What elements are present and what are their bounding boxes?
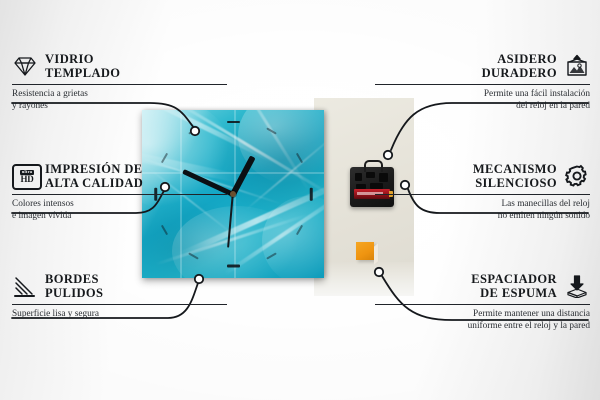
feature-title: ESPACIADOR DE ESPUMA [471, 272, 557, 300]
polished-edges-icon [12, 274, 38, 298]
foam-spacer [356, 242, 374, 260]
feature-title: IMPRESIÓN DE ALTA CALIDAD [45, 162, 143, 190]
gear-icon [564, 164, 590, 188]
feature-subtitle: Colores intensos e imagen vívida [12, 199, 227, 222]
feature-subtitle: Las manecillas del reloj no emiten ningú… [375, 199, 590, 222]
hour-tick [227, 121, 240, 124]
feature-subtitle: Superficie lisa y segura [12, 309, 227, 321]
hour-tick [310, 188, 313, 201]
feature-asidero-duradero[interactable]: ASIDERO DURADERO Permite una fácil insta… [375, 52, 590, 112]
feature-title-row: VIDRIO TEMPLADO [12, 52, 227, 80]
feature-subtitle: Permite una fácil instalación del reloj … [375, 89, 590, 112]
feature-title: ASIDERO DURADERO [482, 52, 557, 80]
hand-center-cap [230, 191, 236, 197]
feature-mecanismo-silencioso[interactable]: MECANISMO SILENCIOSO Las manecillas del … [375, 162, 590, 222]
hour-tick [227, 265, 240, 268]
feature-divider [12, 304, 227, 305]
feature-impresion-alta-calidad[interactable]: ultra HD IMPRESIÓN DE ALTA CALIDAD Color… [12, 162, 227, 222]
feature-title-row: BORDES PULIDOS [12, 272, 227, 300]
feature-subtitle: Permite mantener una distancia uniforme … [375, 309, 590, 332]
diamond-icon [12, 54, 38, 78]
feature-espaciador-de-espuma[interactable]: ESPACIADOR DE ESPUMA Permite mantener un… [375, 272, 590, 332]
feature-title-row: MECANISMO SILENCIOSO [375, 162, 590, 190]
feature-title-row: ultra HD IMPRESIÓN DE ALTA CALIDAD [12, 162, 227, 190]
feature-title: VIDRIO TEMPLADO [45, 52, 120, 80]
feature-subtitle: Resistencia a grietas y rayones [12, 89, 227, 112]
down-arrow-spacer-icon [564, 274, 590, 298]
feature-divider [375, 194, 590, 195]
feature-vidrio-templado[interactable]: VIDRIO TEMPLADO Resistencia a grietas y … [12, 52, 227, 112]
feature-divider [375, 304, 590, 305]
feature-title-row: ESPACIADOR DE ESPUMA [375, 272, 590, 300]
feature-title: MECANISMO SILENCIOSO [473, 162, 557, 190]
feature-title-row: ASIDERO DURADERO [375, 52, 590, 80]
feature-divider [12, 84, 227, 85]
foam-spacer-side [374, 243, 378, 264]
feature-divider [12, 194, 227, 195]
feature-title: BORDES PULIDOS [45, 272, 103, 300]
feature-bordes-pulidos[interactable]: BORDES PULIDOS Superficie lisa y segura [12, 272, 227, 321]
infographic-canvas: VIDRIO TEMPLADO Resistencia a grietas y … [0, 0, 600, 400]
feature-divider [375, 84, 590, 85]
ultra-hd-large-label: HD [20, 175, 33, 184]
picture-hanger-icon [564, 54, 590, 78]
ultra-hd-icon: ultra HD [12, 164, 38, 188]
